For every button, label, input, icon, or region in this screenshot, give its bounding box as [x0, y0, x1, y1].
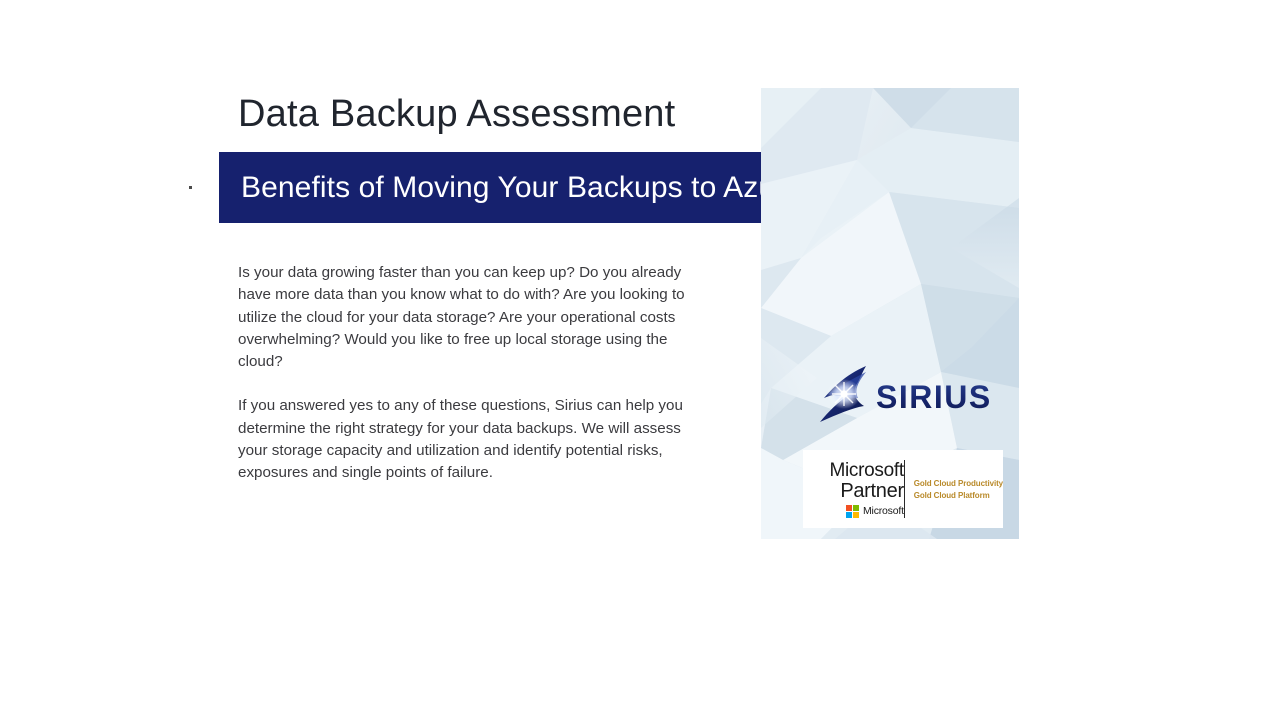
- sirius-logo: SIRIUS: [814, 364, 989, 424]
- microsoft-square-yellow: [853, 512, 859, 518]
- partner-badge-microsoft-word: Microsoft: [829, 461, 903, 481]
- partner-badge-lockup: Microsoft Partner Microsoft: [803, 461, 904, 518]
- microsoft-logo-lockup: Microsoft: [846, 505, 904, 518]
- sirius-starburst-icon: [820, 366, 866, 422]
- microsoft-partner-badge: Microsoft Partner Microsoft Gold Cloud P…: [803, 450, 1003, 528]
- sirius-logo-graphic: SIRIUS: [814, 364, 989, 424]
- competency-item-1: Gold Cloud Productivity: [914, 479, 1003, 488]
- microsoft-logo-label: Microsoft: [863, 505, 904, 517]
- body-paragraph-1: Is your data growing faster than you can…: [238, 262, 708, 373]
- partner-competency-list: Gold Cloud Productivity Gold Cloud Platf…: [905, 479, 1003, 500]
- body-copy: Is your data growing faster than you can…: [238, 262, 708, 485]
- competency-item-2: Gold Cloud Platform: [914, 491, 1003, 500]
- microsoft-square-green: [853, 505, 859, 511]
- partner-badge-partner-word: Partner: [840, 481, 904, 501]
- sirius-wordmark-text: SIRIUS: [876, 379, 989, 415]
- subtitle-banner-text: Benefits of Moving Your Backups to Azure: [241, 171, 802, 205]
- microsoft-squares-icon: [846, 505, 859, 518]
- slide-canvas: Data Backup Assessment Benefits of Movin…: [0, 0, 1280, 720]
- microsoft-square-blue: [846, 512, 852, 518]
- stray-dot-artifact: [189, 186, 192, 189]
- decorative-side-panel: SIRIUS Microsoft Partner Microsoft: [761, 88, 1019, 539]
- body-paragraph-2: If you answered yes to any of these ques…: [238, 395, 708, 484]
- microsoft-square-red: [846, 505, 852, 511]
